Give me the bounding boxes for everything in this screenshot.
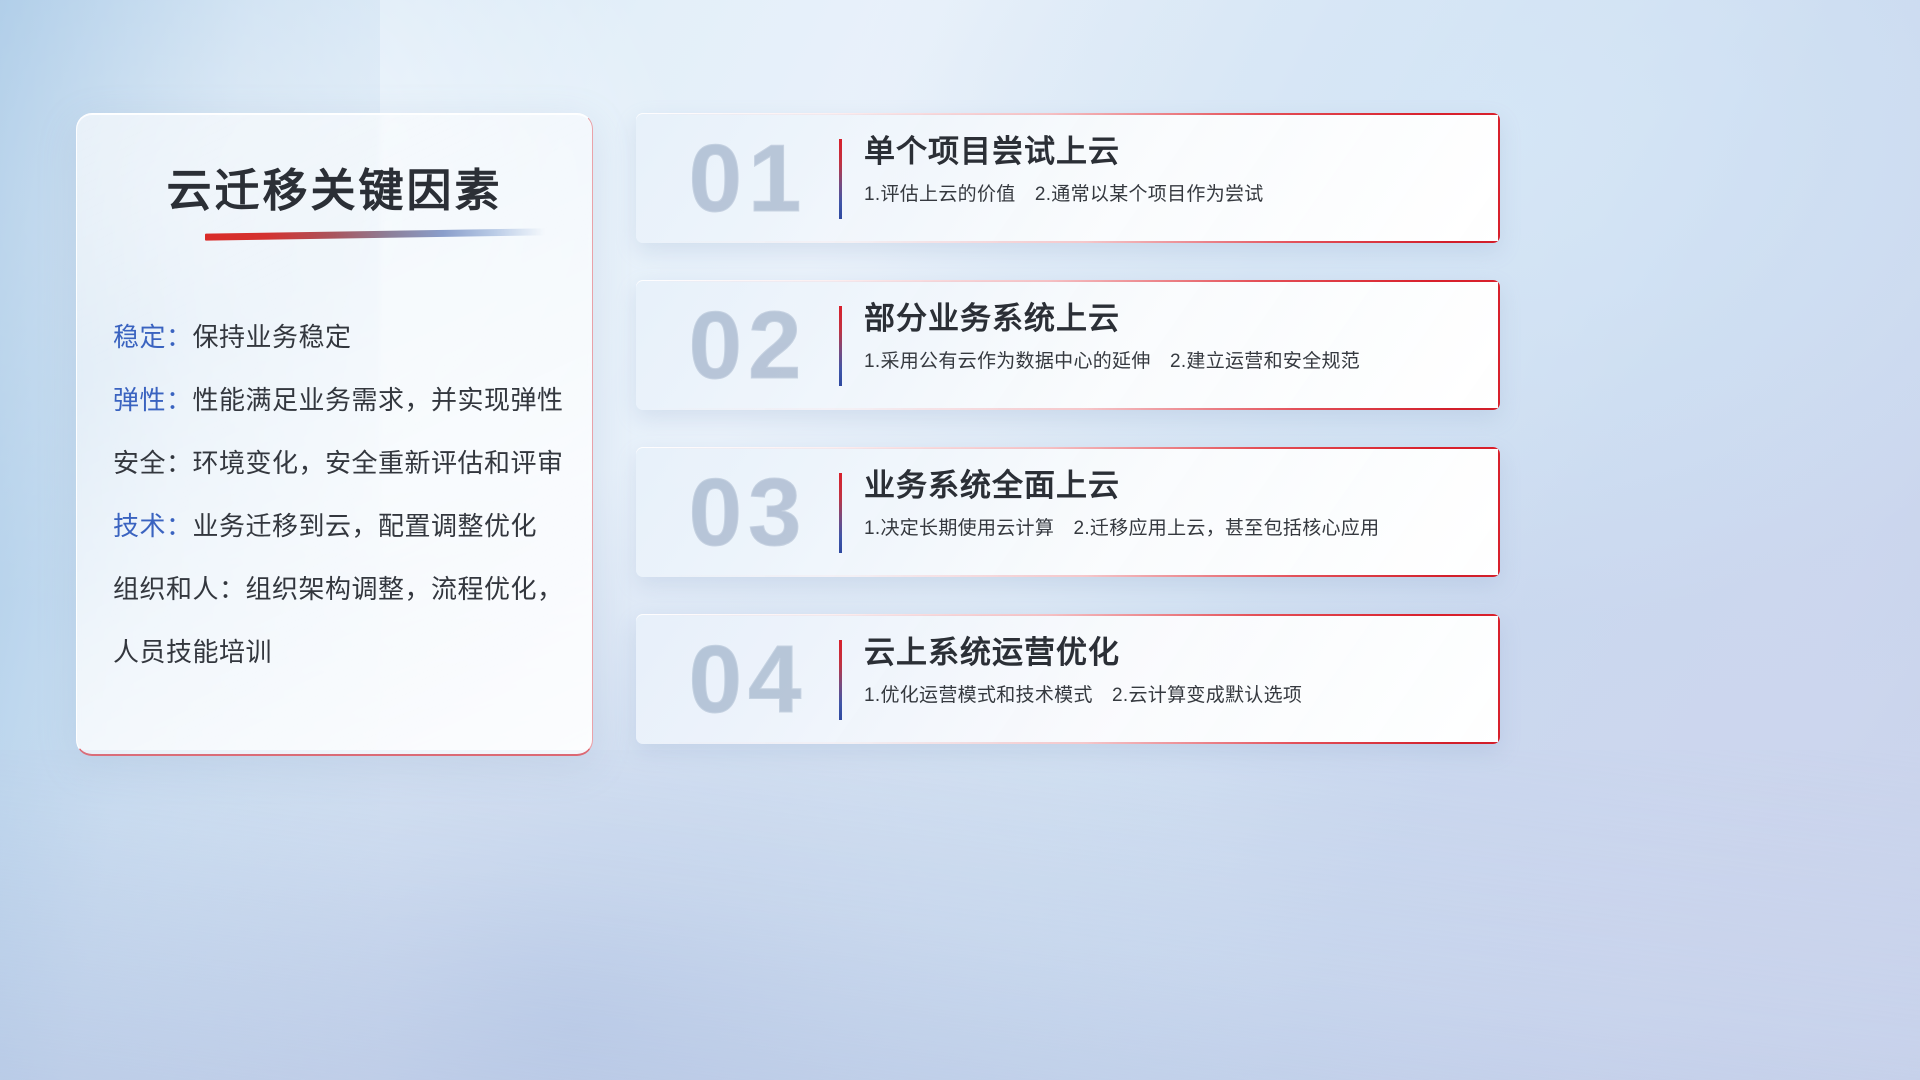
list-item-label: 稳定：	[113, 322, 193, 352]
card-step-number: 04	[658, 620, 838, 740]
card-divider-rule	[839, 473, 842, 553]
card-bottom-accent-rule	[636, 241, 1500, 243]
stage-card-list: 01 单个项目尝试上云 1.评估上云的价值 2.通常以某个项目作为尝试 02 部…	[636, 113, 1500, 781]
card-right-accent-rule	[1498, 614, 1500, 744]
card-top-accent-rule	[636, 280, 1500, 282]
list-item: 弹性：性能满足业务需求，并实现弹性	[113, 369, 570, 432]
list-item-text: 组织架构调整，流程优化，	[246, 574, 564, 604]
card-right-accent-rule	[1498, 280, 1500, 410]
list-item-text: 业务迁移到云，配置调整优化	[193, 511, 538, 541]
card-body: 部分业务系统上云 1.采用公有云作为数据中心的延伸 2.建立运营和安全规范	[864, 298, 1482, 376]
card-title: 部分业务系统上云	[864, 298, 1482, 340]
card-top-accent-rule	[636, 113, 1500, 115]
title-underline-rule	[205, 228, 545, 240]
page-title: 云迁移关键因素	[77, 154, 592, 219]
card-bottom-accent-rule	[636, 575, 1500, 577]
card-top-accent-rule	[636, 614, 1500, 616]
slide-canvas: 云迁移关键因素 稳定：保持业务稳定 弹性：性能满足业务需求，并实现弹性 安全：环…	[0, 0, 1920, 1080]
list-item-text: 环境变化，安全重新评估和评审	[193, 448, 564, 478]
card-body: 业务系统全面上云 1.决定长期使用云计算 2.迁移应用上云，甚至包括核心应用	[864, 465, 1482, 543]
card-title: 云上系统运营优化	[864, 632, 1482, 674]
card-title: 单个项目尝试上云	[864, 131, 1482, 173]
list-item-text: 保持业务稳定	[193, 322, 352, 352]
card-divider-rule	[839, 640, 842, 720]
key-factors-panel: 云迁移关键因素 稳定：保持业务稳定 弹性：性能满足业务需求，并实现弹性 安全：环…	[76, 113, 593, 756]
card-description: 1.优化运营模式和技术模式 2.云计算变成默认选项	[864, 682, 1482, 710]
card-top-accent-rule	[636, 447, 1500, 449]
key-factors-list: 稳定：保持业务稳定 弹性：性能满足业务需求，并实现弹性 安全：环境变化，安全重新…	[113, 306, 570, 684]
list-item: 技术：业务迁移到云，配置调整优化	[113, 495, 570, 558]
card-step-number: 03	[658, 453, 838, 573]
list-item-label: 弹性：	[113, 385, 193, 415]
card-description: 1.采用公有云作为数据中心的延伸 2.建立运营和安全规范	[864, 348, 1482, 376]
list-item-text: 人员技能培训	[113, 637, 272, 667]
card-bottom-accent-rule	[636, 408, 1500, 410]
card-divider-rule	[839, 306, 842, 386]
card-right-accent-rule	[1498, 447, 1500, 577]
stage-card[interactable]: 03 业务系统全面上云 1.决定长期使用云计算 2.迁移应用上云，甚至包括核心应…	[636, 447, 1500, 577]
stage-card[interactable]: 01 单个项目尝试上云 1.评估上云的价值 2.通常以某个项目作为尝试	[636, 113, 1500, 243]
card-bottom-accent-rule	[636, 742, 1500, 744]
list-item: 稳定：保持业务稳定	[113, 306, 570, 369]
list-item-text: 性能满足业务需求，并实现弹性	[193, 385, 564, 415]
card-right-accent-rule	[1498, 113, 1500, 243]
card-step-number: 02	[658, 286, 838, 406]
list-item-continuation: 人员技能培训	[113, 621, 570, 684]
stage-card[interactable]: 04 云上系统运营优化 1.优化运营模式和技术模式 2.云计算变成默认选项	[636, 614, 1500, 744]
card-description: 1.决定长期使用云计算 2.迁移应用上云，甚至包括核心应用	[864, 515, 1482, 543]
card-description: 1.评估上云的价值 2.通常以某个项目作为尝试	[864, 181, 1482, 209]
card-body: 单个项目尝试上云 1.评估上云的价值 2.通常以某个项目作为尝试	[864, 131, 1482, 209]
list-item: 组织和人：组织架构调整，流程优化，	[113, 558, 570, 621]
card-body: 云上系统运营优化 1.优化运营模式和技术模式 2.云计算变成默认选项	[864, 632, 1482, 710]
card-divider-rule	[839, 139, 842, 219]
list-item-label: 组织和人：	[113, 574, 246, 604]
card-title: 业务系统全面上云	[864, 465, 1482, 507]
stage-card[interactable]: 02 部分业务系统上云 1.采用公有云作为数据中心的延伸 2.建立运营和安全规范	[636, 280, 1500, 410]
list-item-label: 技术：	[113, 511, 193, 541]
list-item: 安全：环境变化，安全重新评估和评审	[113, 432, 570, 495]
list-item-label: 安全：	[113, 448, 193, 478]
card-step-number: 01	[658, 119, 838, 239]
